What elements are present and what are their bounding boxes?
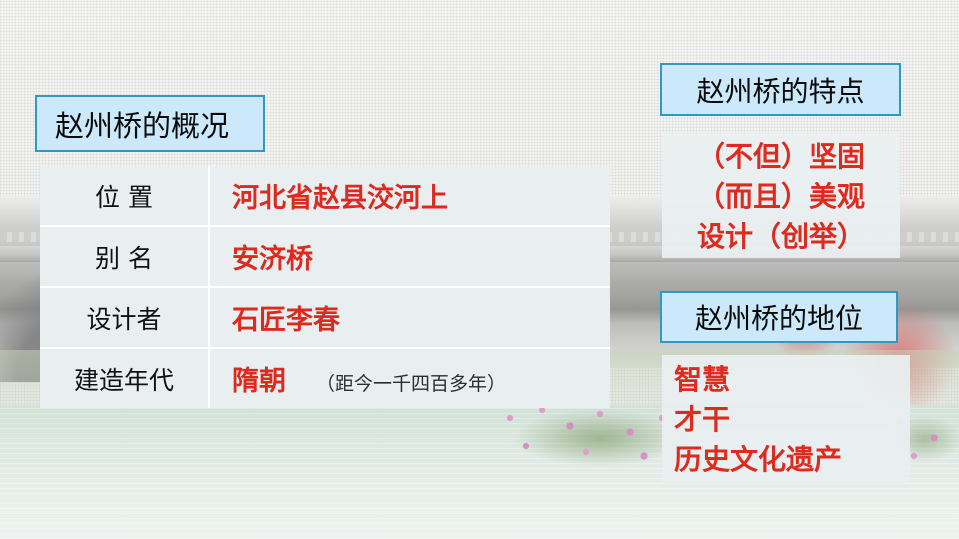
row-label: 设计者 xyxy=(40,287,209,348)
row-value-text: 隋朝 xyxy=(232,366,286,396)
row-value-text: 石匠李春 xyxy=(232,305,340,335)
row-value-note: （距今一千四百多年） xyxy=(316,374,506,395)
status-line: 智慧 xyxy=(674,361,910,401)
row-value-text: 河北省赵县洨河上 xyxy=(232,183,448,213)
features-header-box: 赵州桥的特点 xyxy=(660,63,901,116)
overview-table: 位 置 河北省赵县洨河上 别 名 安济桥 设计者 石匠李春 建造年代 隋朝（距今… xyxy=(40,166,610,408)
table-row: 别 名 安济桥 xyxy=(40,226,610,287)
row-label: 位 置 xyxy=(40,166,209,226)
table-row: 设计者 石匠李春 xyxy=(40,287,610,348)
row-value: 隋朝（距今一千四百多年） xyxy=(209,348,610,408)
features-header-label: 赵州桥的特点 xyxy=(696,70,864,110)
table-row: 位 置 河北省赵县洨河上 xyxy=(40,166,610,226)
row-value-text: 安济桥 xyxy=(232,244,313,274)
status-panel: 智慧 才干 历史文化遗产 xyxy=(662,355,910,482)
features-line: （不但）坚固 xyxy=(672,138,890,178)
status-line: 历史文化遗产 xyxy=(674,441,910,481)
slide-canvas: 赵州桥的概况 位 置 河北省赵县洨河上 别 名 安济桥 设计者 石匠李春 建造年… xyxy=(0,0,959,539)
row-value: 河北省赵县洨河上 xyxy=(209,166,610,226)
row-label: 别 名 xyxy=(40,226,209,287)
overview-header-box: 赵州桥的概况 xyxy=(35,95,265,152)
status-line: 才干 xyxy=(674,401,910,441)
row-value: 安济桥 xyxy=(209,226,610,287)
overview-header-label: 赵州桥的概况 xyxy=(55,103,229,145)
row-label: 建造年代 xyxy=(40,348,209,408)
status-header-label: 赵州桥的地位 xyxy=(695,297,863,337)
row-value: 石匠李春 xyxy=(209,287,610,348)
features-line: 设计（创举） xyxy=(672,218,890,258)
features-line: （而且）美观 xyxy=(672,178,890,218)
table-row: 建造年代 隋朝（距今一千四百多年） xyxy=(40,348,610,408)
overview-table-body: 位 置 河北省赵县洨河上 别 名 安济桥 设计者 石匠李春 建造年代 隋朝（距今… xyxy=(40,166,610,408)
status-header-box: 赵州桥的地位 xyxy=(660,291,898,343)
features-panel: （不但）坚固 （而且）美观 设计（创举） xyxy=(662,132,900,258)
